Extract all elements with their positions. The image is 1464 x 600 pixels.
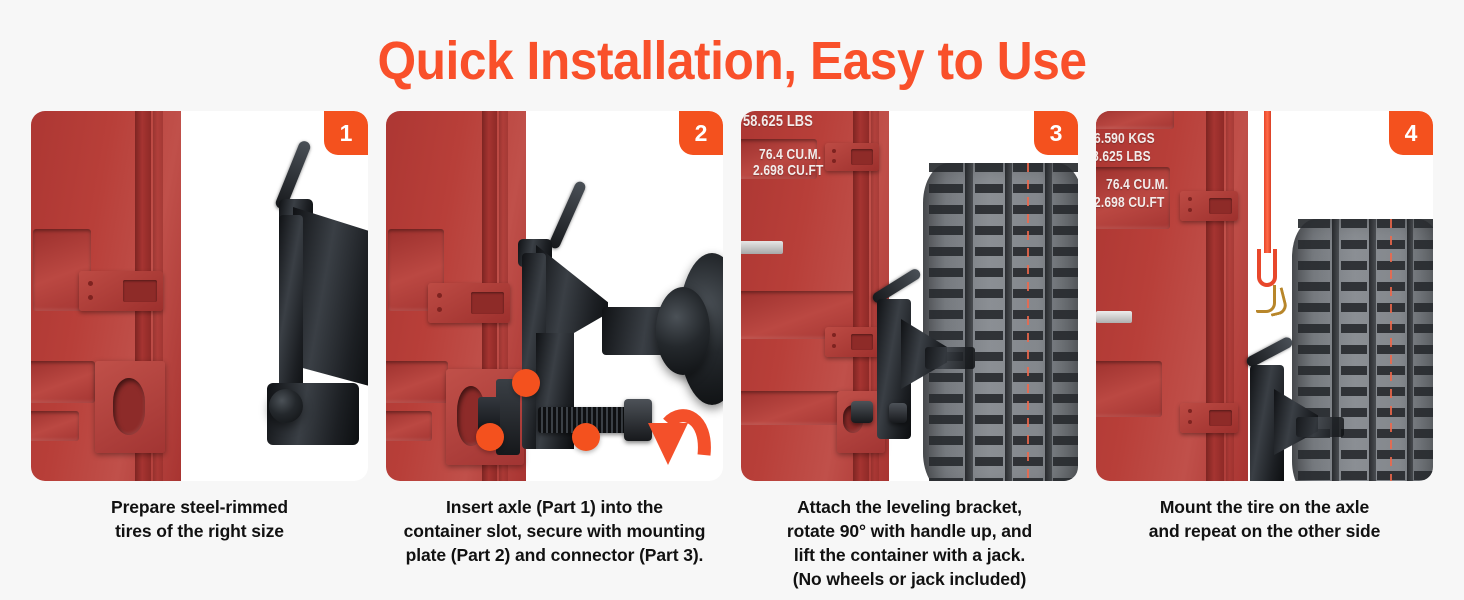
caption-line: lift the container with a jack. (741, 543, 1078, 567)
part-marker-1 (512, 369, 540, 397)
caption-line: container slot, secure with mounting (386, 519, 723, 543)
stencil-volume-cuft: 2.698 CU.FT (1096, 195, 1164, 212)
stencil-volume-cuft: 2.698 CU.FT (753, 163, 823, 180)
axle-leg (279, 215, 303, 405)
caption-line: Mount the tire on the axle (1096, 495, 1433, 519)
container-lug (79, 271, 163, 311)
scene-1 (31, 111, 368, 481)
scene-2 (386, 111, 723, 481)
container-recess (31, 411, 79, 441)
hub-flange-inner (656, 287, 710, 375)
caption-line: tires of the right size (31, 519, 368, 543)
tire (923, 163, 1078, 481)
bracket-bolt (889, 403, 907, 423)
step-badge-3: 3 (1034, 111, 1078, 155)
container-lug (825, 143, 879, 171)
step-card-1: 1 Prepare steel-rimmed tires of the righ… (31, 111, 368, 592)
tire (1292, 219, 1433, 481)
stencil-weight-lbs: 8.625 LBS (1096, 149, 1151, 166)
container-recess (1096, 361, 1162, 417)
step-card-4: 6.590 KGS 8.625 LBS 76.4 CU.M. 2.698 CU.… (1096, 111, 1433, 592)
step-badge-2: 2 (679, 111, 723, 155)
bracket-bolt (851, 401, 873, 423)
step-caption-4: Mount the tire on the axle and repeat on… (1096, 495, 1433, 543)
corner-casting-slot (95, 361, 165, 453)
caption-line: plate (Part 2) and connector (Part 3). (386, 543, 723, 567)
caption-line: and repeat on the other side (1096, 519, 1433, 543)
part-marker-3 (572, 423, 600, 451)
caption-line: rotate 90° with handle up, and (741, 519, 1078, 543)
part-marker-2 (476, 423, 504, 451)
step-image-1: 1 (31, 111, 368, 481)
step-caption-3: Attach the leveling bracket, rotate 90° … (741, 495, 1078, 592)
container-recess (741, 391, 851, 425)
bracket-handle (1245, 335, 1294, 368)
axle-stub (1296, 417, 1344, 437)
rotate-down-arrow-icon (642, 389, 712, 469)
axle-stub (925, 347, 975, 369)
container-lug (428, 283, 510, 323)
step-caption-2: Insert axle (Part 1) into the container … (386, 495, 723, 567)
step-image-4: 6.590 KGS 8.625 LBS 76.4 CU.M. 2.698 CU.… (1096, 111, 1433, 481)
lifting-strap (1264, 111, 1271, 253)
stencil-weight-kgs: 6.590 KGS (1096, 131, 1155, 148)
installation-guide-page: Quick Installation, Easy to Use (0, 0, 1464, 600)
step-image-2: 2 (386, 111, 723, 481)
stencil-weight: 58.625 LBS (743, 113, 813, 131)
container-recess (1096, 111, 1174, 129)
container-recess (386, 411, 432, 441)
step-card-3: 58.625 LBS 76.4 CU.M. 2.698 CU.FT (741, 111, 1078, 592)
page-title: Quick Installation, Easy to Use (59, 30, 1406, 92)
step-badge-1: 1 (324, 111, 368, 155)
container-recess (31, 361, 95, 403)
caption-line: Attach the leveling bracket, (741, 495, 1078, 519)
container-lug (825, 327, 879, 357)
axle-plate (293, 207, 368, 387)
caption-line: Insert axle (Part 1) into the (386, 495, 723, 519)
strap-loop (1257, 249, 1277, 287)
scene-3: 58.625 LBS 76.4 CU.M. 2.698 CU.FT (741, 111, 1078, 481)
caption-line: Prepare steel-rimmed (31, 495, 368, 519)
step-image-3: 58.625 LBS 76.4 CU.M. 2.698 CU.FT (741, 111, 1078, 481)
stencil-volume-cum: 76.4 CU.M. (1106, 177, 1168, 194)
axle-hub (269, 389, 303, 423)
step-badge-4: 4 (1389, 111, 1433, 155)
container-lug (1180, 403, 1238, 433)
container-lug (1180, 191, 1238, 221)
door-latch (1096, 311, 1132, 323)
caption-line: (No wheels or jack included) (741, 567, 1078, 591)
step-card-2: 2 Insert axle (Part 1) into the containe… (386, 111, 723, 592)
step-caption-1: Prepare steel-rimmed tires of the right … (31, 495, 368, 543)
axle-handle (548, 180, 587, 250)
scene-4: 6.590 KGS 8.625 LBS 76.4 CU.M. 2.698 CU.… (1096, 111, 1433, 481)
container-recess (386, 361, 448, 403)
door-latch (741, 241, 783, 254)
steps-row: 1 Prepare steel-rimmed tires of the righ… (31, 111, 1433, 592)
